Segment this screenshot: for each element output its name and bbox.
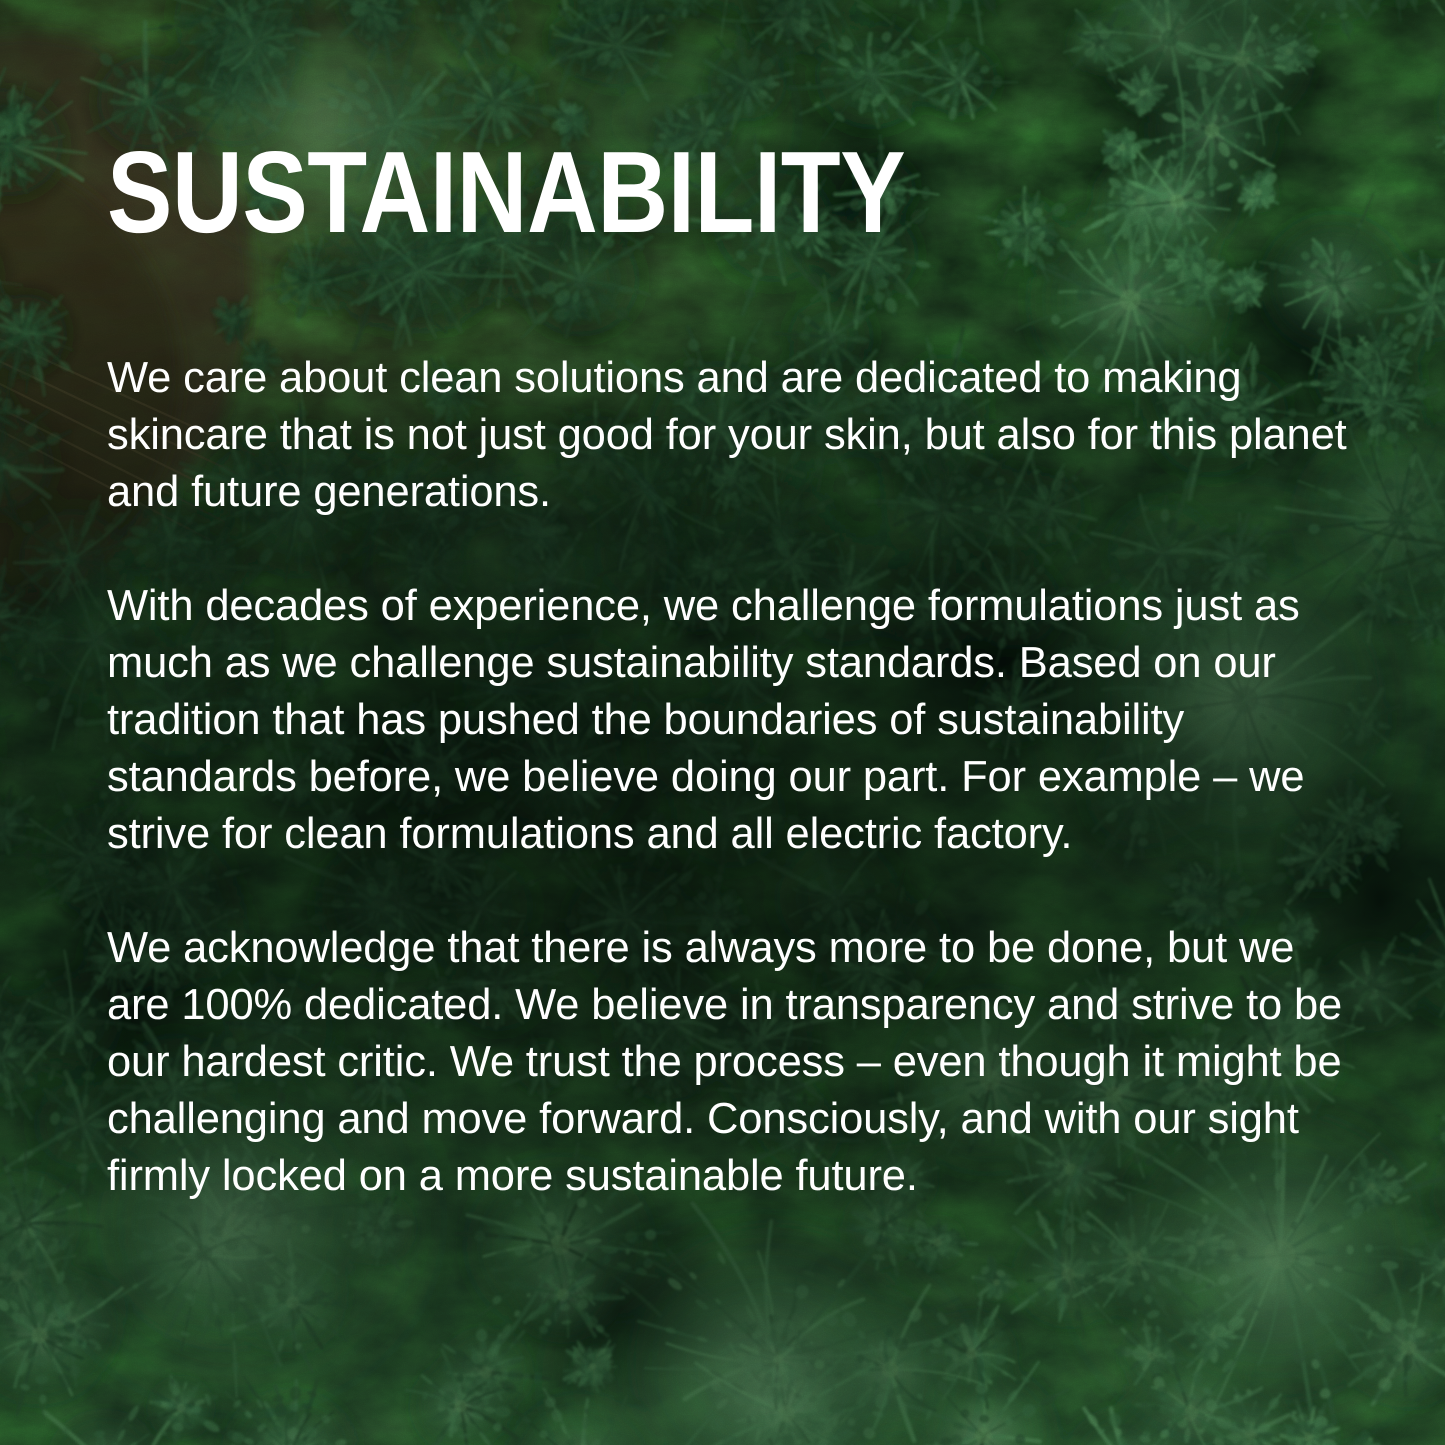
paragraph-1: We care about clean solutions and are de…: [107, 350, 1362, 521]
sustainability-poster: SUSTAINABILITY We care about clean solut…: [0, 0, 1445, 1445]
paragraph-3: We acknowledge that there is always more…: [107, 920, 1362, 1205]
poster-content: SUSTAINABILITY We care about clean solut…: [0, 0, 1445, 1445]
paragraph-2: With decades of experience, we challenge…: [107, 578, 1362, 863]
body-copy: We care about clean solutions and are de…: [107, 350, 1362, 1205]
page-title: SUSTAINABILITY: [107, 134, 905, 250]
